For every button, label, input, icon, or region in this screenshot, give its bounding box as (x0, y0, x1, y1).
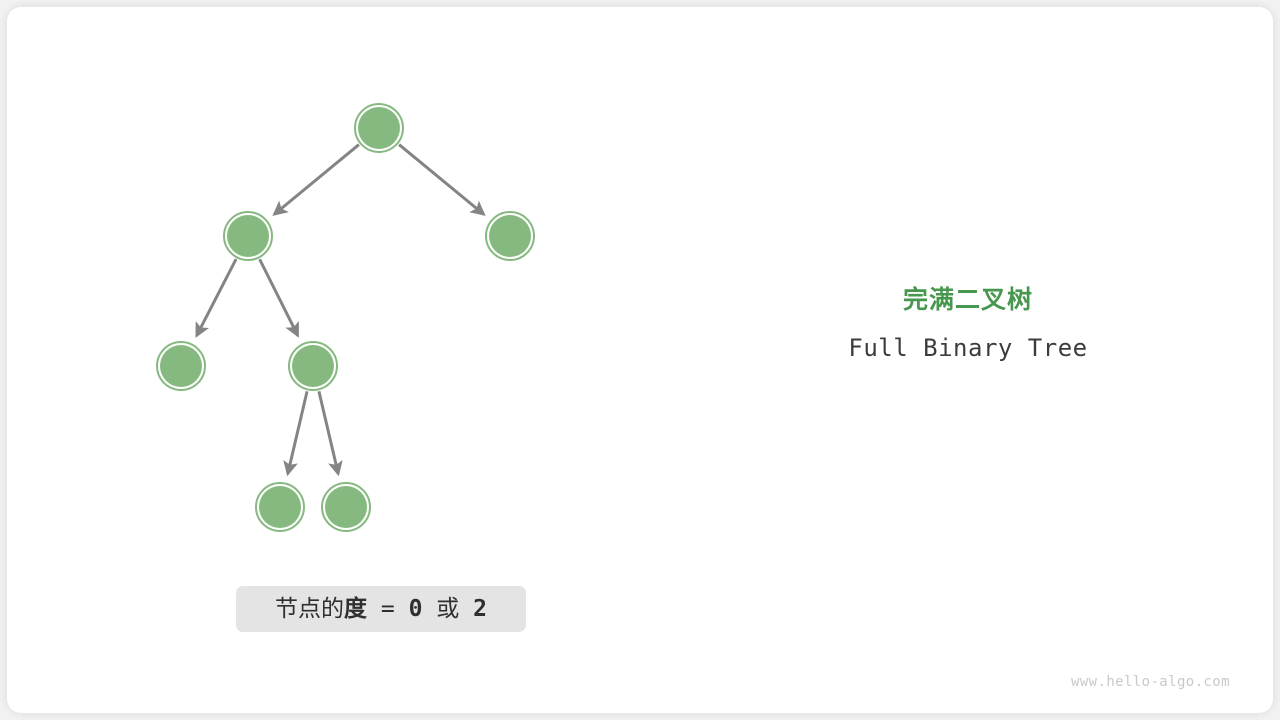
legend-title-en: Full Binary Tree (768, 336, 1168, 360)
tree-edge-n0-n1 (274, 145, 359, 215)
tree-edge-n0-n2 (399, 145, 484, 215)
caption-segment-5: 2 (473, 596, 487, 622)
caption-segment-0: 节点的 (275, 596, 344, 622)
tree-node-n3[interactable] (157, 342, 205, 390)
tree-node-circle (489, 215, 531, 257)
tree-node-n1[interactable] (224, 212, 272, 260)
tree-edge-layer (197, 145, 484, 474)
tree-edge-n4-n6 (319, 391, 338, 474)
caption-pill: 节点的度 = 0 或 2 (236, 586, 526, 632)
tree-edge-n1-n4 (260, 259, 298, 335)
caption-segment-2: = (367, 596, 409, 622)
tree-node-n4[interactable] (289, 342, 337, 390)
tree-node-n2[interactable] (486, 212, 534, 260)
tree-node-circle (160, 345, 202, 387)
tree-node-circle (292, 345, 334, 387)
tree-node-circle (227, 215, 269, 257)
tree-node-circle (325, 486, 367, 528)
diagram-canvas: 完满二叉树 Full Binary Tree 节点的度 = 0 或 2 www.… (0, 0, 1280, 720)
tree-node-n5[interactable] (256, 483, 304, 531)
tree-node-circle (358, 107, 400, 149)
tree-node-n0[interactable] (355, 104, 403, 152)
caption-segment-3: 0 (409, 596, 423, 622)
caption-segment-4: 或 (422, 596, 473, 622)
tree-edge-n4-n5 (288, 391, 307, 474)
legend-block: 完满二叉树 Full Binary Tree (768, 288, 1168, 360)
tree-node-n6[interactable] (322, 483, 370, 531)
watermark-url: www.hello-algo.com (1071, 675, 1230, 689)
binary-tree-diagram (0, 0, 1280, 720)
tree-node-circle (259, 486, 301, 528)
caption-text: 节点的度 = 0 或 2 (275, 598, 487, 621)
legend-title-zh: 完满二叉树 (768, 288, 1168, 313)
caption-segment-1: 度 (344, 596, 367, 622)
tree-node-layer (157, 104, 534, 531)
tree-edge-n1-n3 (197, 259, 237, 336)
